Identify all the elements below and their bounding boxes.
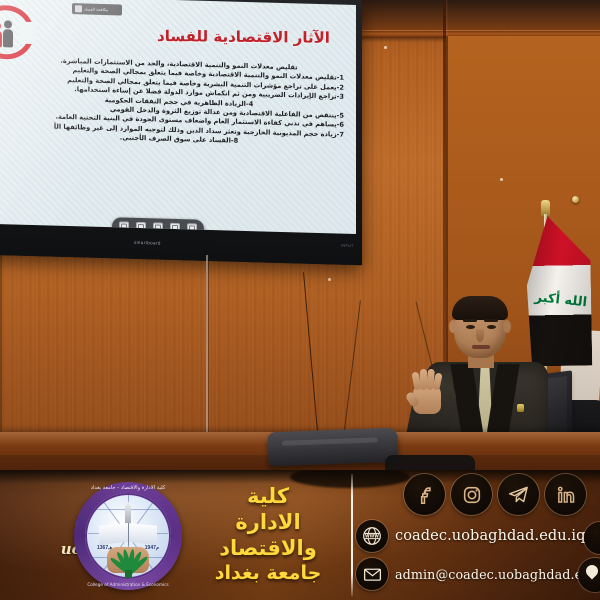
slide-title: الآثار الاقتصادية للفساد xyxy=(157,27,330,47)
instagram-button[interactable] xyxy=(451,474,492,515)
seal-globe-icon: 1367هـ 1947م xyxy=(85,493,171,579)
svg-text:WWW: WWW xyxy=(365,534,379,539)
equipment-bag xyxy=(267,428,398,467)
social-links[interactable] xyxy=(404,474,586,515)
contact-links[interactable]: WWW coadec.uobaghdad.edu.iq admin@coadec… xyxy=(356,520,600,596)
eyebrow xyxy=(463,319,477,322)
ear xyxy=(503,320,511,333)
nose xyxy=(476,329,484,342)
email-row[interactable]: admin@coadec.uobaghdad.edu.iq xyxy=(356,558,600,590)
screenshot-stage: مكافحة الفساد الآثار الاقتصادية للفساد ت… xyxy=(0,0,600,600)
arabic-name-line-1: كلية xyxy=(196,484,340,509)
website-url[interactable]: coadec.uobaghdad.edu.iq xyxy=(395,528,586,544)
website-row[interactable]: WWW coadec.uobaghdad.edu.iq xyxy=(356,520,600,552)
facebook-button[interactable] xyxy=(404,474,445,515)
ear xyxy=(449,320,457,333)
arabic-name-line-3: جامعة بغداد xyxy=(196,561,340,586)
display-input-label: INPUT xyxy=(341,244,354,248)
lapel-pin xyxy=(517,404,524,412)
wall-speck xyxy=(328,278,331,281)
eye xyxy=(466,325,475,329)
palm-tree-icon xyxy=(107,547,149,573)
telegram-icon xyxy=(507,483,530,506)
eyebrow xyxy=(484,319,498,322)
badge-text: مكافحة الفساد xyxy=(84,6,108,12)
raised-hand xyxy=(408,368,444,414)
wall-speck xyxy=(500,178,503,181)
bottom-banner: conomics uobaghdad كلية الادارة والاقتصا… xyxy=(0,470,600,600)
slide-body: تقليص معدلات النمو والتنمية الاقتصادية، … xyxy=(14,56,344,150)
instagram-icon xyxy=(461,484,483,506)
badge-square-icon xyxy=(75,5,82,12)
eye xyxy=(487,325,496,329)
seal-english-text: College of Administration & Economics xyxy=(74,582,182,587)
mouth xyxy=(472,345,490,349)
envelope-icon xyxy=(356,558,388,590)
facebook-icon xyxy=(414,484,436,506)
anticorruption-logo-icon xyxy=(0,4,34,60)
linkedin-button[interactable] xyxy=(545,474,586,515)
arabic-name-line-2: الادارة والاقتصاد xyxy=(196,509,340,561)
wall-speck xyxy=(384,46,387,49)
linkedin-icon xyxy=(555,484,577,506)
globe-www-icon: WWW xyxy=(356,520,388,552)
display-screen[interactable]: مكافحة الفساد الآثار الاقتصادية للفساد ت… xyxy=(0,0,356,234)
seal-arabic-text: كلية الادارة والاقتصاد - جامعة بغداد xyxy=(74,485,182,491)
display-brand-logo: smartboard xyxy=(134,240,161,246)
banner-divider xyxy=(351,474,353,596)
arabic-college-name: كلية الادارة والاقتصاد جامعة بغداد xyxy=(196,484,340,586)
slide-badge: مكافحة الفساد xyxy=(72,3,122,15)
college-seal: كلية الادارة والاقتصاد - جامعة بغداد Col… xyxy=(74,482,182,590)
interactive-display[interactable]: مكافحة الفساد الآثار الاقتصادية للفساد ت… xyxy=(0,0,362,265)
email-address[interactable]: admin@coadec.uobaghdad.edu.iq xyxy=(395,567,600,582)
telegram-button[interactable] xyxy=(498,474,539,515)
hair xyxy=(452,296,508,320)
